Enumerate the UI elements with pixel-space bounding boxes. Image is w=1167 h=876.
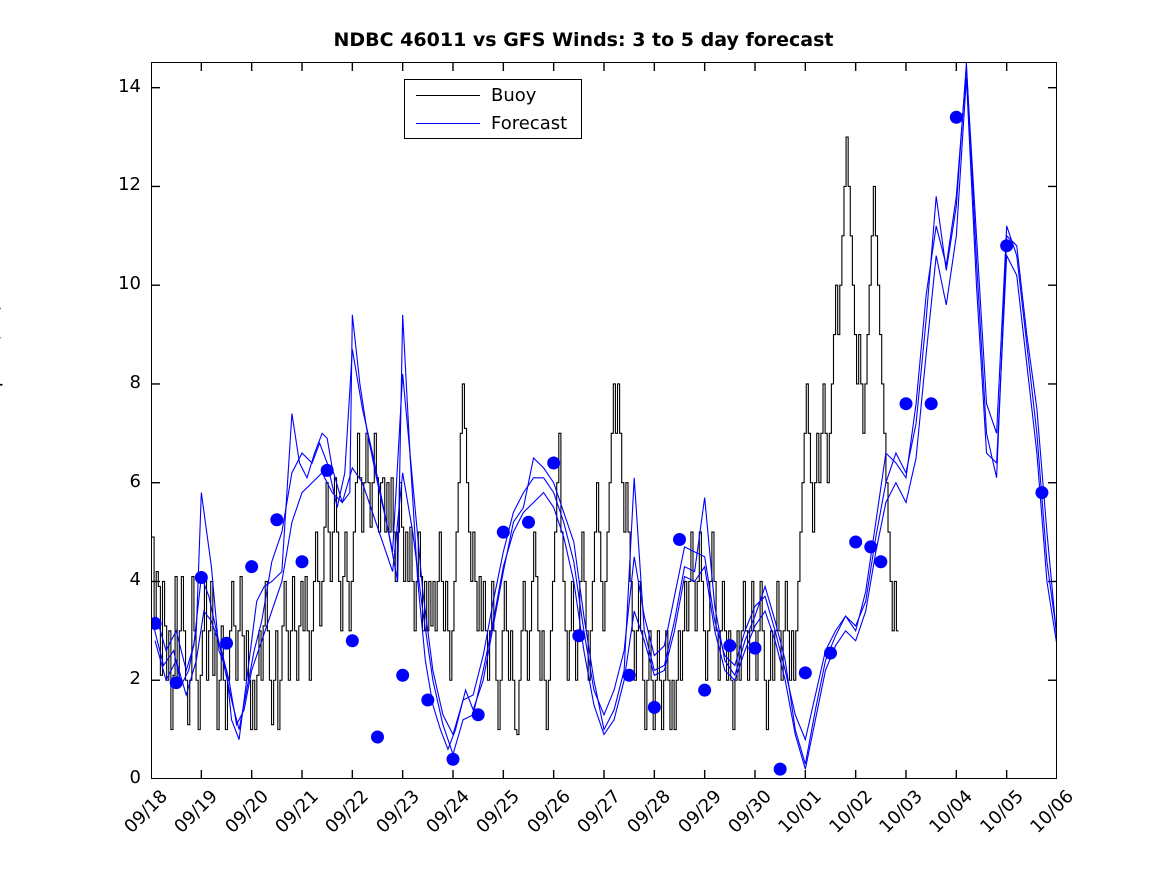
x-axis-tick-label: 09/28: [618, 786, 675, 843]
x-axis-tick-label: 09/21: [266, 786, 323, 843]
x-axis-tick-label: 09/20: [215, 786, 272, 843]
legend-item: Buoy: [405, 81, 583, 111]
y-axis-tick-label: 6: [130, 471, 141, 492]
y-axis-tick-label: 14: [118, 76, 141, 97]
y-axis-label: Wind speed, m/sec: [0, 3, 4, 720]
x-axis-tick-label: 09/18: [115, 786, 172, 843]
x-axis-tick-label: 09/23: [366, 786, 423, 843]
x-axis-tick-label: 10/02: [819, 786, 876, 843]
legend-label: Buoy: [491, 85, 536, 106]
plot-area: [151, 62, 1057, 779]
x-axis-tick-label: 10/06: [1021, 786, 1078, 843]
y-axis-tick-label: 2: [130, 668, 141, 689]
legend-swatch: [416, 123, 480, 124]
x-axis-tick-label: 10/03: [870, 786, 927, 843]
legend-item: Forecast: [405, 109, 583, 139]
chart-title: NDBC 46011 vs GFS Winds: 3 to 5 day fore…: [0, 29, 1167, 51]
x-axis-tick-label: 09/24: [417, 786, 474, 843]
y-axis-tick-label: 0: [130, 767, 141, 788]
x-axis-tick-label: 09/22: [316, 786, 373, 843]
y-axis-tick-labels: 02468101214: [101, 62, 141, 779]
legend-swatch: [416, 95, 480, 96]
chart-figure: NDBC 46011 vs GFS Winds: 3 to 5 day fore…: [0, 0, 1167, 875]
x-axis-tick-label: 09/19: [165, 786, 222, 843]
x-axis-tick-labels: 09/1809/1909/2009/2109/2209/2309/2409/25…: [151, 786, 1111, 876]
x-axis-tick-label: 10/04: [920, 786, 977, 843]
x-axis-tick-label: 10/05: [970, 786, 1027, 843]
legend-label: Forecast: [491, 113, 567, 134]
x-axis-tick-label: 09/30: [719, 786, 776, 843]
x-axis-tick-label: 09/25: [467, 786, 524, 843]
y-axis-tick-label: 12: [118, 174, 141, 195]
y-axis-tick-label: 10: [118, 273, 141, 294]
plot-frame: [151, 62, 1057, 779]
y-axis-tick-label: 4: [130, 569, 141, 590]
x-axis-tick-label: 09/27: [568, 786, 625, 843]
x-axis-tick-label: 09/26: [517, 786, 574, 843]
x-axis-tick-label: 09/29: [668, 786, 725, 843]
chart-legend: BuoyForecast: [404, 79, 582, 139]
x-axis-tick-label: 10/01: [769, 786, 826, 843]
y-axis-tick-label: 8: [130, 372, 141, 393]
